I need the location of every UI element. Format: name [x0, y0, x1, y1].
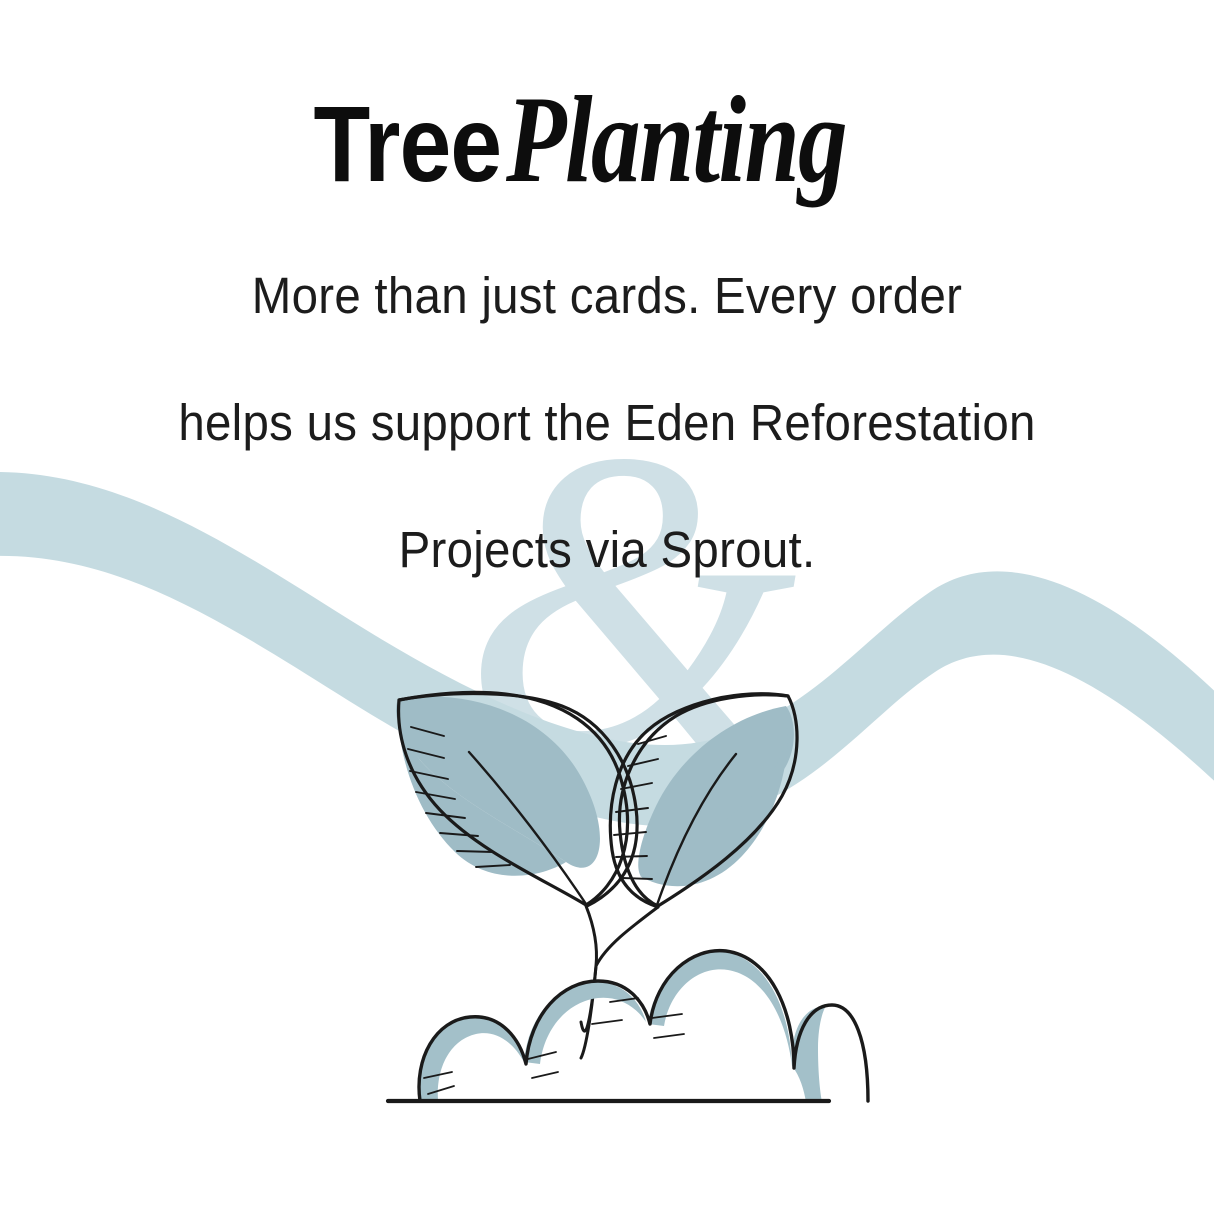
- left-leaf-vein: [469, 752, 586, 904]
- right-leaf-hatches: [614, 736, 666, 879]
- soil-mound-outline: [419, 951, 868, 1101]
- left-leaf-hatches: [408, 727, 510, 867]
- page-title-bold-part: Tree: [314, 90, 502, 198]
- stem-left-branch: [586, 906, 597, 966]
- right-leaf-outline: [619, 695, 797, 906]
- right-leaf-fill: [638, 706, 794, 879]
- right-leaf-fill-lower: [640, 706, 788, 886]
- body-copy-line-2: helps us support the Eden Reforestation: [42, 359, 1171, 486]
- page-title: TreePlanting: [0, 0, 1214, 202]
- left-leaf-fill-lower: [398, 699, 566, 876]
- body-copy-line-1: More than just cards. Every order: [42, 232, 1171, 359]
- soil-shading-3: [648, 952, 792, 1066]
- soil-shading-4: [792, 1006, 826, 1102]
- soil-hatches: [424, 998, 684, 1094]
- left-leaf-edge: [399, 694, 637, 906]
- text-block: TreePlanting More than just cards. Every…: [0, 0, 1214, 613]
- soil-shading: [419, 1018, 524, 1100]
- body-copy: More than just cards. Every order helps …: [0, 202, 1214, 613]
- page-title-italic-part: Planting: [506, 78, 846, 202]
- right-leaf-vein: [657, 754, 736, 905]
- soil-shading-2: [524, 982, 646, 1064]
- right-leaf-edge: [610, 694, 788, 907]
- left-leaf-outline: [399, 692, 628, 905]
- left-leaf-fill: [396, 697, 600, 868]
- stem-right-branch: [596, 907, 658, 966]
- stem-main: [581, 966, 596, 1031]
- body-copy-line-3: Projects via Sprout.: [42, 486, 1171, 613]
- stem-shaft: [581, 966, 596, 1058]
- tree-planting-graphic: &: [0, 0, 1214, 1214]
